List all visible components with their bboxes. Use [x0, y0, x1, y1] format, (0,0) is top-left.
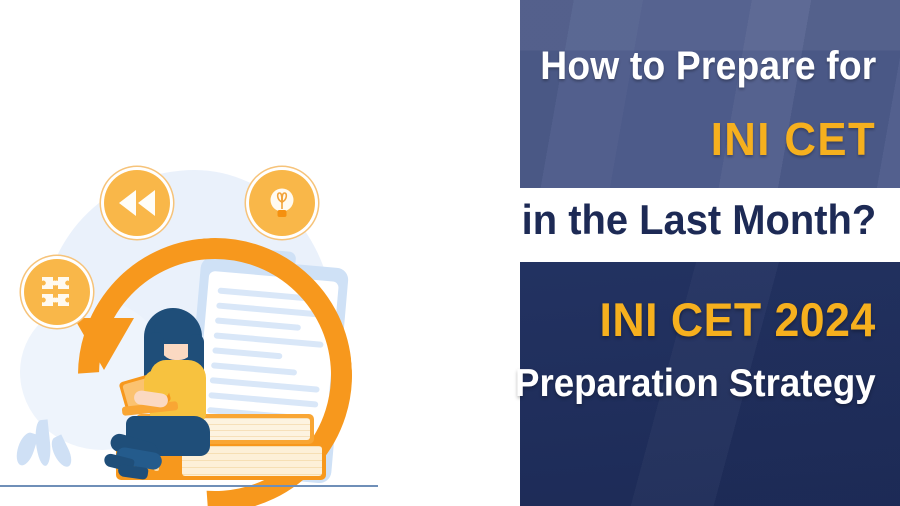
illustration-scene	[0, 0, 400, 506]
headline-line-4: INI CET 2024	[600, 292, 876, 347]
student-figure	[104, 306, 244, 486]
bottom-divider	[0, 485, 378, 487]
headline-line-5: Preparation Strategy	[515, 362, 876, 406]
puzzle-icon	[24, 259, 90, 325]
headline-line-3: in the Last Month?	[521, 196, 876, 244]
headline-line-1: How to Prepare for	[540, 44, 876, 89]
headline-line-2: INI CET	[711, 112, 876, 166]
banner-root: How to Prepare for INI CET in the Last M…	[0, 0, 900, 506]
rewind-icon	[104, 170, 170, 236]
lightbulb-icon	[249, 170, 315, 236]
